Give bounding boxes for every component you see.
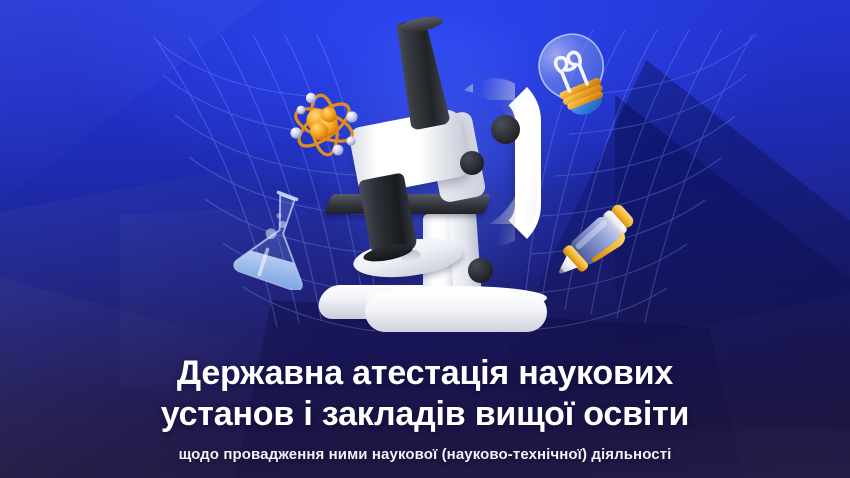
- pen-icon: [552, 192, 640, 288]
- banner-text-block: Державна атестація наукових установ і за…: [0, 353, 850, 464]
- microscope-fine-knob: [460, 151, 484, 175]
- lightbulb-icon: [530, 28, 618, 118]
- hero-banner: Державна атестація наукових установ і за…: [0, 0, 850, 478]
- microscope-stage-knob: [468, 258, 493, 283]
- microscope-eyepiece: [391, 17, 451, 131]
- flask-icon: [226, 188, 318, 290]
- microscope-base-front: [365, 292, 547, 332]
- atom-icon: [283, 84, 365, 166]
- microscope-coarse-knob: [491, 115, 520, 144]
- page-title-line-2: установ і закладів вищої освіти: [40, 394, 810, 435]
- page-title-line-1: Державна атестація наукових: [40, 353, 810, 394]
- microscope-icon: [305, 18, 555, 328]
- page-subtitle: щодо провадження ними наукової (науково-…: [40, 445, 810, 465]
